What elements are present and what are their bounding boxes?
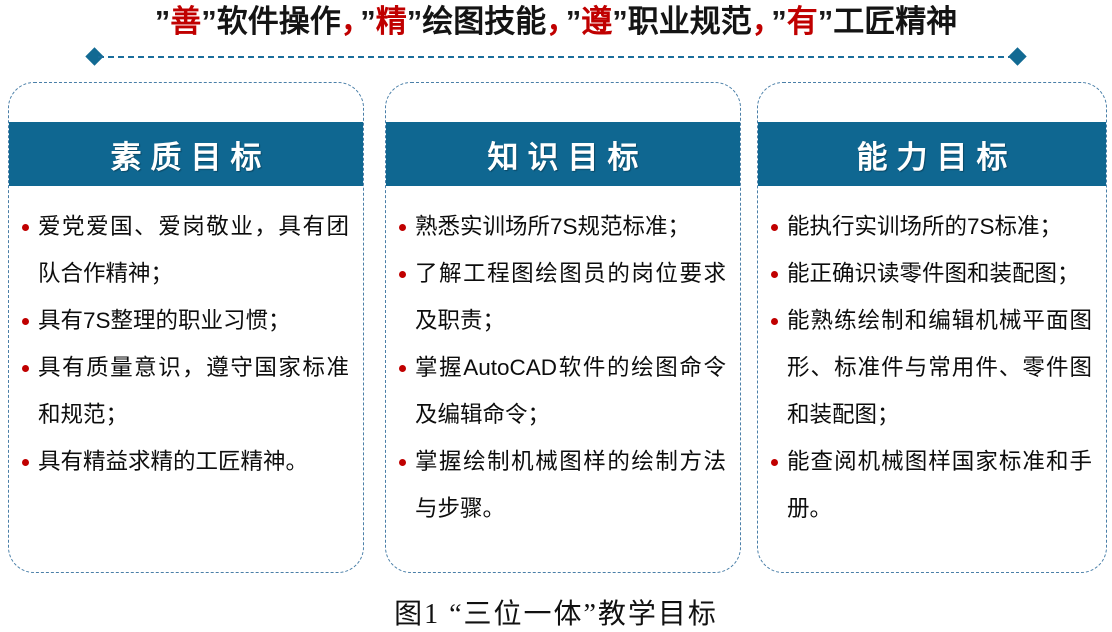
goal-card-header: 能力目标 xyxy=(758,122,1106,186)
page-title-text: ”善”软件操作，”精”绘图技能，”遵”职业规范，”有”工匠精神 xyxy=(155,4,958,39)
goal-card-quality: 素质目标 爱党爱国、爱岗敬业，具有团队合作精神； 具有7S整理的职业习惯； 具有… xyxy=(8,82,364,573)
title-segment-quote: ” xyxy=(612,4,628,39)
title-segment-quote: ” xyxy=(407,4,423,39)
title-segment-comma: ， xyxy=(341,4,361,39)
title-segment-quote: ” xyxy=(771,4,787,39)
list-item: 具有精益求精的工匠精神。 xyxy=(17,438,349,485)
goal-card-title: 知识目标 xyxy=(479,132,648,177)
title-segment-quote: ” xyxy=(566,4,582,39)
goal-card-title: 素质目标 xyxy=(102,132,271,177)
list-item: 具有质量意识，遵守国家标准和规范； xyxy=(17,344,349,438)
list-item: 熟悉实训场所7S规范标准； xyxy=(394,203,726,250)
list-item: 具有7S整理的职业习惯； xyxy=(17,297,349,344)
list-item: 能熟练绘制和编辑机械平面图形、标准件与常用件、零件图和装配图； xyxy=(766,297,1092,438)
diamond-right-icon xyxy=(1008,47,1026,65)
goal-list: 能执行实训场所的7S标准； 能正确识读零件图和装配图； 能熟练绘制和编辑机械平面… xyxy=(766,203,1092,532)
goal-card-title: 能力目标 xyxy=(848,132,1017,177)
goal-card-body: 爱党爱国、爱岗敬业，具有团队合作精神； 具有7S整理的职业习惯； 具有质量意识，… xyxy=(9,203,363,485)
title-segment-plain: 绘图技能 xyxy=(422,4,546,39)
title-segment-plain: 软件操作 xyxy=(217,4,341,39)
list-item: 掌握AutoCAD软件的绘图命令及编辑命令； xyxy=(394,344,726,438)
page-title: ”善”软件操作，”精”绘图技能，”遵”职业规范，”有”工匠精神 xyxy=(0,2,1112,42)
title-segment-quote: ” xyxy=(360,4,376,39)
title-segment-highlight: 善 xyxy=(170,4,201,39)
title-segment-highlight: 遵 xyxy=(581,4,612,39)
title-segment-quote: ” xyxy=(818,4,834,39)
goal-card-header: 素质目标 xyxy=(9,122,363,186)
list-item: 能执行实训场所的7S标准； xyxy=(766,203,1092,250)
title-segment-comma: ， xyxy=(546,4,566,39)
list-item: 能正确识读零件图和装配图； xyxy=(766,250,1092,297)
decorative-divider xyxy=(88,48,1024,66)
title-segment-comma: ， xyxy=(752,4,772,39)
list-item: 掌握绘制机械图样的绘制方法与步骤。 xyxy=(394,438,726,532)
title-segment-quote: ” xyxy=(201,4,217,39)
title-segment-plain: 工匠精神 xyxy=(833,4,957,39)
title-segment-plain: 职业规范 xyxy=(628,4,752,39)
title-segment-highlight: 精 xyxy=(376,4,407,39)
goal-card-knowledge: 知识目标 熟悉实训场所7S规范标准； 了解工程图绘图员的岗位要求及职责； 掌握A… xyxy=(385,82,741,573)
divider-dashed-line xyxy=(98,56,1014,58)
goal-cards-container: 素质目标 爱党爱国、爱岗敬业，具有团队合作精神； 具有7S整理的职业习惯； 具有… xyxy=(0,82,1112,577)
title-segment-quote: ” xyxy=(155,4,171,39)
list-item: 爱党爱国、爱岗敬业，具有团队合作精神； xyxy=(17,203,349,297)
goal-card-ability: 能力目标 能执行实训场所的7S标准； 能正确识读零件图和装配图； 能熟练绘制和编… xyxy=(757,82,1107,573)
goal-list: 爱党爱国、爱岗敬业，具有团队合作精神； 具有7S整理的职业习惯； 具有质量意识，… xyxy=(17,203,349,485)
list-item: 了解工程图绘图员的岗位要求及职责； xyxy=(394,250,726,344)
goal-card-body: 能执行实训场所的7S标准； 能正确识读零件图和装配图； 能熟练绘制和编辑机械平面… xyxy=(758,203,1106,532)
goal-card-body: 熟悉实训场所7S规范标准； 了解工程图绘图员的岗位要求及职责； 掌握AutoCA… xyxy=(386,203,740,532)
figure-caption: 图1 “三位一体”教学目标 xyxy=(0,592,1112,632)
list-item: 能查阅机械图样国家标准和手册。 xyxy=(766,438,1092,532)
goal-card-header: 知识目标 xyxy=(386,122,740,186)
title-segment-highlight: 有 xyxy=(787,4,818,39)
goal-list: 熟悉实训场所7S规范标准； 了解工程图绘图员的岗位要求及职责； 掌握AutoCA… xyxy=(394,203,726,532)
